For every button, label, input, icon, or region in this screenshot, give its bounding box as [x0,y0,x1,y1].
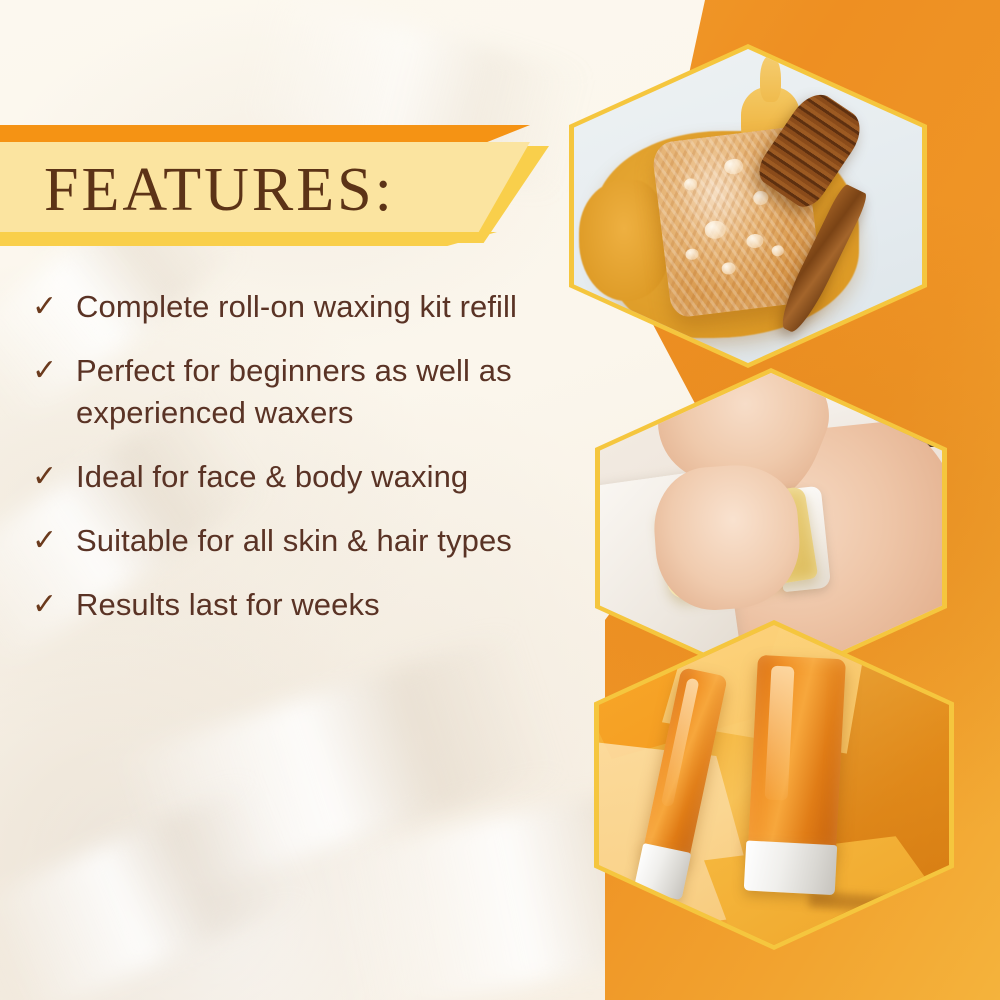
feature-text: Suitable for all skin & hair types [76,520,532,562]
list-item: ✓ Ideal for face & body waxing [32,456,532,498]
feature-text: Complete roll-on waxing kit refill [76,286,532,328]
list-item: ✓ Results last for weeks [32,584,532,626]
check-icon: ✓ [32,520,76,562]
check-icon: ✓ [32,286,76,328]
fabric-fold [117,629,563,901]
fabric-fold [0,780,303,1000]
list-item: ✓ Complete roll-on waxing kit refill [32,286,532,328]
feature-text: Results last for weeks [76,584,532,626]
wax-cartridge-right [748,655,845,851]
check-icon: ✓ [32,456,76,498]
feature-list: ✓ Complete roll-on waxing kit refill ✓ P… [32,286,532,648]
feature-text: Ideal for face & body waxing [76,456,532,498]
list-item: ✓ Perfect for beginners as well as exper… [32,350,532,434]
check-icon: ✓ [32,350,76,392]
roller-cap [744,841,837,896]
list-item: ✓ Suitable for all skin & hair types [32,520,532,562]
banner-stripe-bottom [0,232,497,246]
product-feature-banner: FEATURES: ✓ Complete roll-on waxing kit … [0,0,1000,1000]
feature-text: Perfect for beginners as well as experie… [76,350,532,434]
banner-stripe-top [0,125,530,144]
check-icon: ✓ [32,584,76,626]
page-title: FEATURES: [44,148,395,232]
features-banner: FEATURES: [0,120,600,255]
